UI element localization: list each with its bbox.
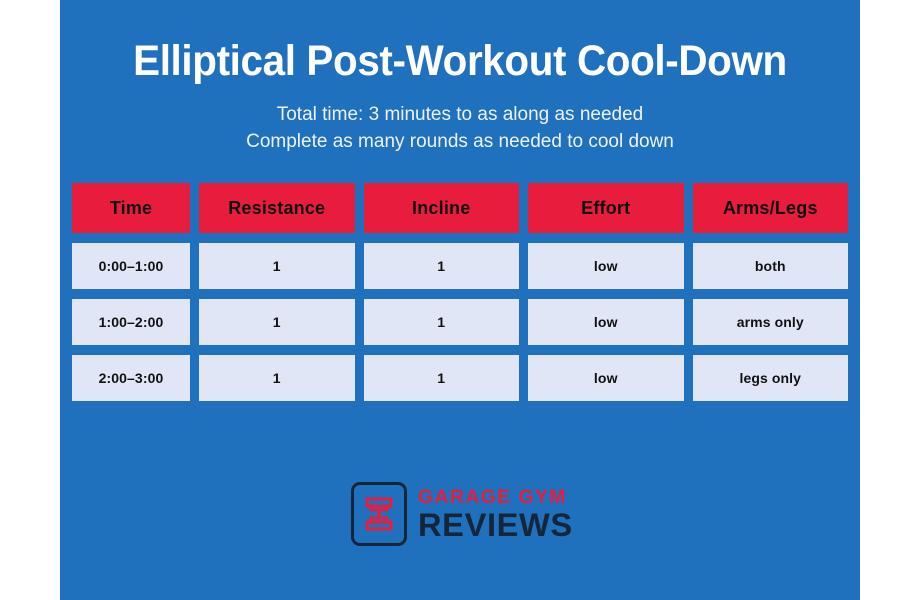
- subtitle-block: Total time: 3 minutes to as along as nee…: [60, 84, 860, 156]
- cell-time: 1:00–2:00: [72, 299, 190, 345]
- cell-time: 0:00–1:00: [72, 243, 190, 289]
- cell-effort: low: [528, 355, 684, 401]
- cell-effort: low: [528, 243, 684, 289]
- table-row: 2:00–3:00 1 1 low legs only: [72, 355, 848, 401]
- cell-resistance: 1: [199, 355, 355, 401]
- cell-incline: 1: [364, 299, 520, 345]
- poster-canvas: Elliptical Post-Workout Cool-Down Total …: [0, 0, 920, 600]
- column-header-incline: Incline: [364, 183, 520, 233]
- workout-table: Time Resistance Incline Effort Arms/Legs…: [72, 156, 848, 401]
- column-header-arms-legs: Arms/Legs: [693, 183, 849, 233]
- cell-effort: low: [528, 299, 684, 345]
- table-row: 1:00–2:00 1 1 low arms only: [72, 299, 848, 345]
- subtitle-line-2: Complete as many rounds as needed to coo…: [60, 129, 860, 156]
- brand-logo: GARAGE GYM REVIEWS: [60, 482, 860, 546]
- cell-incline: 1: [364, 355, 520, 401]
- logo-wordmark: GARAGE GYM REVIEWS: [418, 488, 570, 541]
- column-header-effort: Effort: [528, 183, 684, 233]
- logo-text-garage-gym: GARAGE GYM: [418, 488, 567, 507]
- cell-arms-legs: both: [693, 243, 849, 289]
- cell-time: 2:00–3:00: [72, 355, 190, 401]
- cell-arms-legs: arms only: [693, 299, 849, 345]
- cell-incline: 1: [364, 243, 520, 289]
- barbell-rack-icon: [351, 482, 407, 546]
- page-title: Elliptical Post-Workout Cool-Down: [84, 0, 836, 84]
- column-header-resistance: Resistance: [199, 183, 355, 233]
- logo-text-reviews: REVIEWS: [418, 509, 573, 541]
- table-row: 0:00–1:00 1 1 low both: [72, 243, 848, 289]
- cell-resistance: 1: [199, 243, 355, 289]
- subtitle-line-1: Total time: 3 minutes to as along as nee…: [60, 102, 860, 129]
- cell-resistance: 1: [199, 299, 355, 345]
- column-header-time: Time: [72, 183, 190, 233]
- cell-arms-legs: legs only: [693, 355, 849, 401]
- table-header-row: Time Resistance Incline Effort Arms/Legs: [72, 183, 848, 233]
- poster-panel: Elliptical Post-Workout Cool-Down Total …: [60, 0, 860, 600]
